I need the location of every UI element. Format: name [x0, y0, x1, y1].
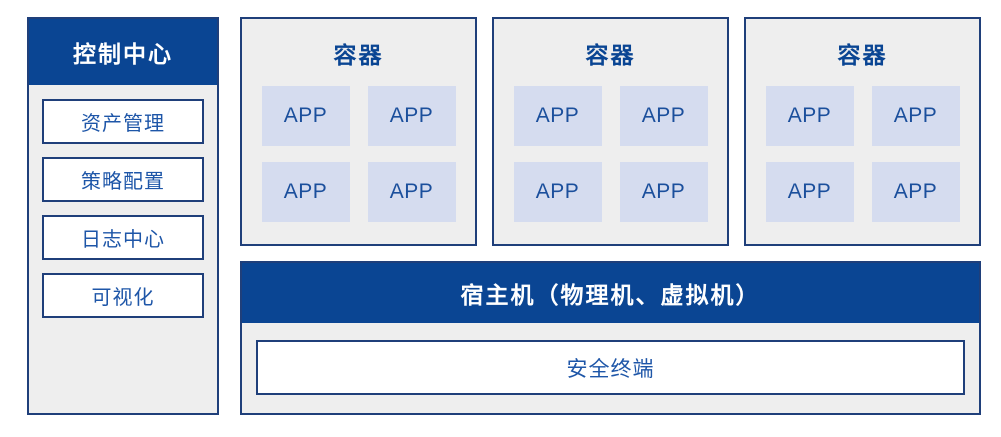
app-box[interactable]: APP [262, 86, 350, 146]
container-panel-2: 容器 APP APP APP APP [492, 17, 729, 246]
host-machine-body: 安全终端 [242, 323, 979, 395]
architecture-diagram: 控制中心 资产管理 策略配置 日志中心 可视化 容器 APP APP APP A… [0, 0, 1001, 437]
sidebar-item-asset-management[interactable]: 资产管理 [42, 99, 204, 144]
control-center-panel: 控制中心 资产管理 策略配置 日志中心 可视化 [27, 17, 219, 415]
app-box[interactable]: APP [514, 86, 602, 146]
control-center-item-list: 资产管理 策略配置 日志中心 可视化 [29, 85, 217, 318]
app-box[interactable]: APP [368, 86, 456, 146]
container-title: 容器 [334, 36, 384, 70]
host-machine-title: 宿主机（物理机、虚拟机） [242, 263, 979, 323]
sidebar-item-visualization[interactable]: 可视化 [42, 273, 204, 318]
app-box[interactable]: APP [766, 162, 854, 222]
sidebar-item-log-center[interactable]: 日志中心 [42, 215, 204, 260]
right-column: 容器 APP APP APP APP 容器 APP APP APP APP [240, 17, 981, 415]
app-box[interactable]: APP [620, 162, 708, 222]
container-panel-3: 容器 APP APP APP APP [744, 17, 981, 246]
app-box[interactable]: APP [872, 86, 960, 146]
app-grid: APP APP APP APP [514, 86, 708, 222]
container-title: 容器 [586, 36, 636, 70]
container-panel-1: 容器 APP APP APP APP [240, 17, 477, 246]
app-grid: APP APP APP APP [766, 86, 960, 222]
containers-row: 容器 APP APP APP APP 容器 APP APP APP APP [240, 17, 981, 246]
container-title: 容器 [838, 36, 888, 70]
app-box[interactable]: APP [766, 86, 854, 146]
app-grid: APP APP APP APP [262, 86, 456, 222]
secure-terminal-box[interactable]: 安全终端 [256, 340, 965, 395]
app-box[interactable]: APP [368, 162, 456, 222]
app-box[interactable]: APP [514, 162, 602, 222]
control-center-title: 控制中心 [29, 19, 217, 85]
app-box[interactable]: APP [872, 162, 960, 222]
host-machine-panel: 宿主机（物理机、虚拟机） 安全终端 [240, 261, 981, 415]
app-box[interactable]: APP [620, 86, 708, 146]
sidebar-item-policy-configuration[interactable]: 策略配置 [42, 157, 204, 202]
app-box[interactable]: APP [262, 162, 350, 222]
